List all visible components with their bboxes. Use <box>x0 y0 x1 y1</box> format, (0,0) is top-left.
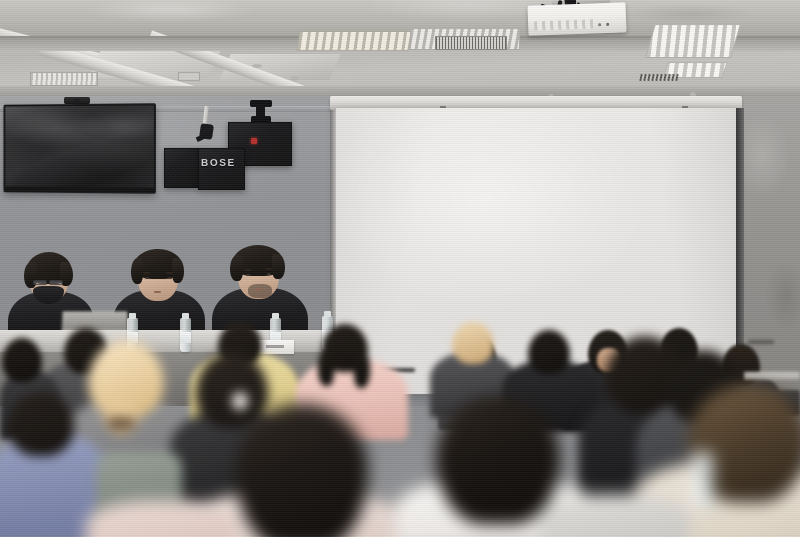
ceiling-label <box>639 74 678 81</box>
lecture-hall-photograph: BOSE <box>0 0 800 537</box>
ceiling-fixture <box>252 64 262 68</box>
air-vent-icon <box>296 31 412 51</box>
name-card <box>258 340 294 354</box>
bose-speaker-lower <box>198 148 245 190</box>
water-bottle <box>180 318 191 352</box>
tv-bezel <box>5 186 153 191</box>
screen-reflection <box>5 105 153 191</box>
laptop-screen <box>62 311 128 329</box>
ceiling-projector <box>528 2 627 35</box>
wall-mounted-television <box>3 103 155 193</box>
ceiling-speaker-icon <box>178 72 200 81</box>
air-vent-grille-icon <box>435 36 507 50</box>
audience-desk <box>744 372 800 380</box>
bose-brand-logo: BOSE <box>201 158 241 169</box>
projector-vent-icon <box>534 19 594 30</box>
ceiling-fixture <box>290 76 299 81</box>
bose-speaker-left <box>164 148 199 188</box>
air-vent-icon <box>30 72 98 86</box>
air-vent-icon <box>645 24 741 58</box>
seat-rail <box>748 340 774 344</box>
projector-led-icon <box>598 23 601 26</box>
water-bottle <box>692 452 714 508</box>
speaker-power-led-icon <box>251 138 257 144</box>
projector-led-icon <box>606 23 609 26</box>
